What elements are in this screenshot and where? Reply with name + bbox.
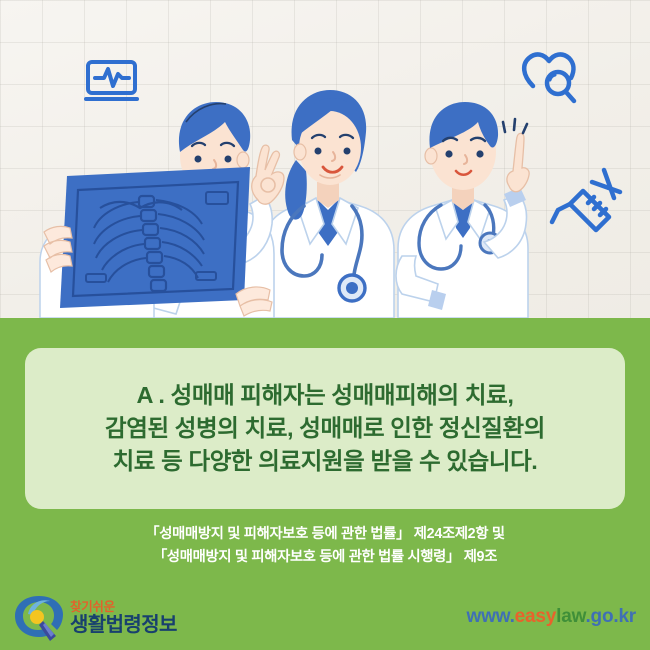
illustration-area	[0, 0, 650, 318]
doctor-center	[262, 90, 394, 318]
easylaw-logo[interactable]: 찾기쉬운 생활법령정보	[12, 592, 177, 642]
law-references: 「성매매방지 및 피해자보호 등에 관한 법률」 제24조제2항 및 「성매매방…	[0, 523, 650, 569]
answer-line-2: 감염된 성병의 치료, 성매매로 인한 정신질환의	[105, 413, 545, 444]
law-reference-line-2: 「성매매방지 및 피해자보호 등에 관한 법률 시행령」 제9조	[0, 546, 650, 569]
logo-top-text: 찾기쉬운	[70, 601, 177, 614]
logo-bottom-text: 생활법령정보	[70, 615, 177, 635]
card-news: A . 성매매 피해자는 성매매피해의 치료, 감염된 성병의 치료, 성매매로…	[0, 0, 650, 650]
url-part-easy: easy	[515, 606, 556, 627]
url-part-gokr: .go.kr	[585, 606, 636, 627]
answer-line-1: A . 성매매 피해자는 성매매피해의 치료,	[137, 380, 514, 411]
answer-text: A . 성매매 피해자는 성매매피해의 치료, 감염된 성병의 치료, 성매매로…	[25, 348, 625, 509]
syringe-icon	[552, 170, 620, 230]
xray-film	[60, 167, 250, 308]
footer: 찾기쉬운 생활법령정보 www.easylaw.go.kr	[0, 588, 650, 650]
heart-search-icon	[524, 54, 574, 101]
site-url[interactable]: www.easylaw.go.kr	[467, 606, 636, 628]
ecg-monitor-icon	[86, 62, 137, 99]
hand-left	[44, 226, 72, 272]
doctor-pointing	[396, 102, 529, 318]
easylaw-logo-text: 찾기쉬운 생활법령정보	[70, 599, 177, 636]
answer-line-3: 치료 등 다양한 의료지원을 받을 수 있습니다.	[113, 446, 538, 477]
url-part-www: www.	[467, 606, 515, 627]
easylaw-logo-icon	[12, 592, 66, 642]
url-part-law: law	[556, 606, 585, 627]
law-reference-line-1: 「성매매방지 및 피해자보호 등에 관한 법률」 제24조제2항 및	[0, 523, 650, 546]
